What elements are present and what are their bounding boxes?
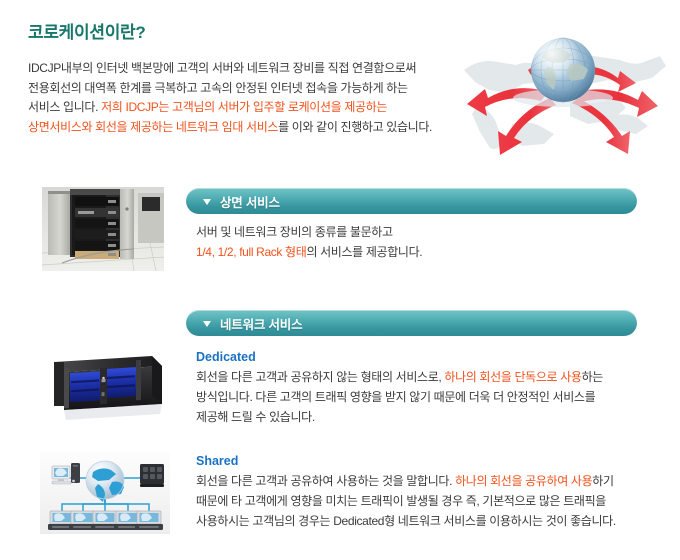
shared-line-1-tail: 하기 <box>592 474 613 488</box>
rackmount-server-photo <box>40 352 168 427</box>
network-diagram-photo <box>40 452 170 534</box>
intro-paragraph: IDCJP내부의 인터넷 백본망에 고객의 서버와 네트워크 장비를 직접 연결… <box>28 59 458 137</box>
sangmyeon-line-2-highlight: 1/4, 1/2, full Rack 형태 <box>196 245 306 259</box>
section-header-label: 상면 서비스 <box>220 192 280 211</box>
dedicated-line-3: 제공해 드릴 수 있습니다. <box>196 410 315 424</box>
dedicated-line-1-tail: 하는 <box>582 370 603 384</box>
intro-line-3-plain: 서비스 입니다. <box>28 100 101 114</box>
shared-title: Shared <box>196 452 648 470</box>
sangmyeon-service-body: 서버 및 네트워크 장비의 종류를 불문하고 1/4, 1/2, full Ra… <box>196 222 636 262</box>
laptop-row <box>48 511 163 530</box>
sangmyeon-line-2-plain: 의 서비스를 제공합니다. <box>306 245 422 259</box>
colocation-info-page: 코로케이션이란? IDCJP내부의 인터넷 백본망에 고객의 서버와 네트워크 … <box>0 0 680 560</box>
dedicated-body: Dedicated 회선을 다른 고객과 공유하지 않는 형태의 서비스로, 하… <box>196 348 642 427</box>
intro-line-2: 전용회선의 대역폭 한계를 극복하고 고속의 안정된 인터넷 접속을 가능하게 … <box>28 81 408 95</box>
server-rack-photo <box>42 187 164 271</box>
dedicated-line-1-highlight: 하나의 회선을 단독으로 사용 <box>444 370 581 384</box>
dedicated-line-1-plain: 회선을 다른 고객과 공유하지 않는 형태의 서비스로, <box>196 370 444 384</box>
shared-line-1-highlight: 하나의 회선을 공유하여 사용 <box>455 474 592 488</box>
chevron-down-icon <box>203 321 211 327</box>
shared-line-3: 사용하시는 고객님의 경우는 Dedicated형 네트워크 서비스를 이용하시… <box>196 514 616 528</box>
section-header-sangmyeon-service[interactable]: 상면 서비스 <box>186 188 637 214</box>
intro-line-4-highlight: 상면서비스와 회선을 제공하는 네트워크 임대 서비스 <box>28 120 278 134</box>
section-header-network-service[interactable]: 네트워크 서비스 <box>186 310 637 336</box>
page-title: 코로케이션이란? <box>28 18 145 43</box>
section-header-label: 네트워크 서비스 <box>220 314 302 333</box>
shared-line-2: 때문에 타 고객에게 영향을 미치는 트래픽이 발생될 경우 즉, 기본적으로 … <box>196 494 606 508</box>
intro-line-4-plain: 를 이와 같이 진행하고 있습니다. <box>278 120 432 134</box>
sangmyeon-line-1: 서버 및 네트워크 장비의 종류를 불문하고 <box>196 225 393 239</box>
globe-network-illustration <box>452 8 676 176</box>
dedicated-title: Dedicated <box>196 348 642 366</box>
dedicated-line-2: 방식입니다. 다른 고객의 트래픽 영향을 받지 않기 때문에 더욱 더 안정적… <box>196 390 595 404</box>
shared-line-1-plain: 회선을 다른 고객과 공유하여 사용하는 것을 말합니다. <box>196 474 455 488</box>
intro-line-3-highlight: 저희 IDCJP는 고객님의 서버가 입주할 로케이션을 제공하는 <box>101 100 387 114</box>
intro-line-1: IDCJP내부의 인터넷 백본망에 고객의 서버와 네트워크 장비를 직접 연결… <box>28 61 416 75</box>
globe-sphere <box>531 38 595 102</box>
desktop-pc <box>52 463 80 484</box>
chevron-down-icon <box>203 199 211 205</box>
shared-body: Shared 회선을 다른 고객과 공유하여 사용하는 것을 말합니다. 하나의… <box>196 452 648 531</box>
rack-server <box>140 464 164 487</box>
